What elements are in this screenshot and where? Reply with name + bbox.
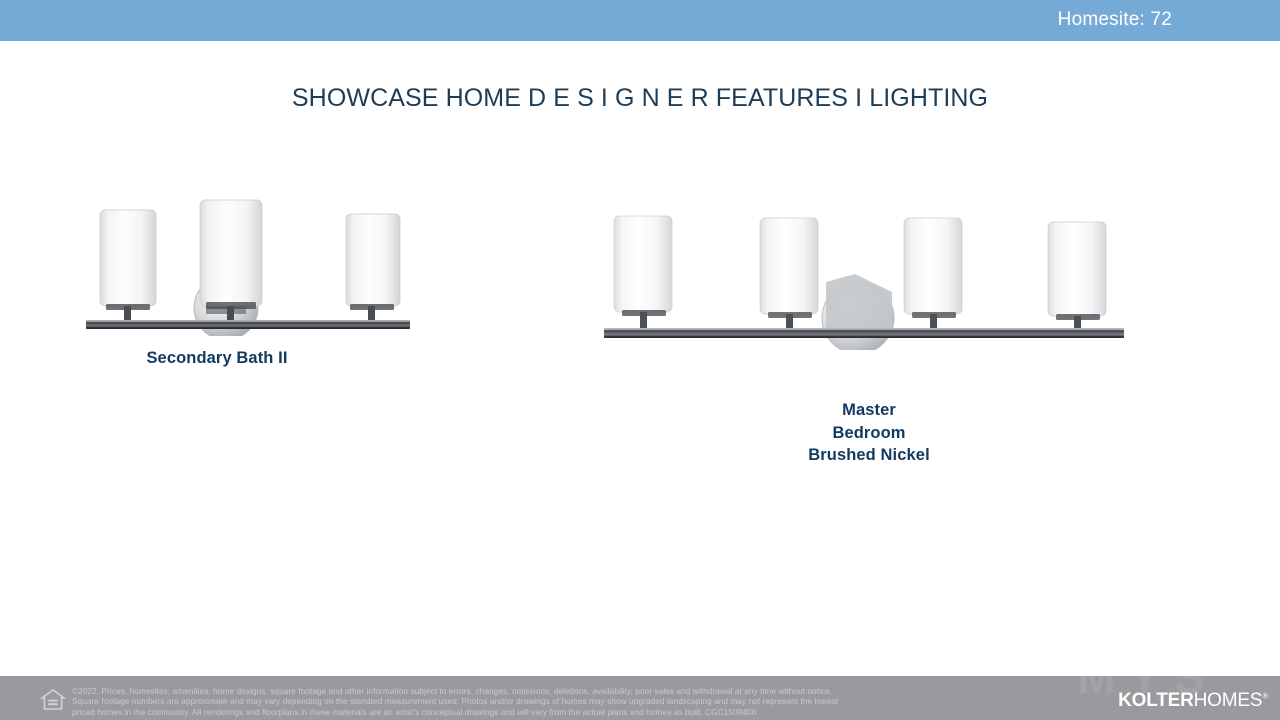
secondary-bath-ii-label: Secondary Bath II [78, 347, 356, 370]
page-title: SHOWCASE HOME D E S I G N E R FEATURES I… [0, 84, 1280, 113]
master-bedroom-fixture-image [600, 200, 1130, 350]
logo-kolter: KOLTER [1118, 690, 1194, 711]
disclaimer-line: ©2022. Prices, homesites, amenities, hom… [72, 686, 1084, 696]
disclaimer-line: Square footage numbers are approximate a… [72, 696, 1084, 706]
legal-disclaimer: ©2022. Prices, homesites, amenities, hom… [72, 686, 1084, 717]
slide-canvas: Homesite: 72 SHOWCASE HOME D E S I G N E… [0, 0, 1280, 720]
label-line: Brushed Nickel [700, 444, 1038, 467]
homesite-label: Homesite: 72 [1058, 9, 1172, 31]
logo-registered-mark: ® [1262, 692, 1268, 701]
disclaimer-line: priced homes in the community. All rende… [72, 707, 1084, 717]
kolter-homes-logo: KOLTERHOMES® [1118, 690, 1268, 712]
label-line: Bedroom [700, 422, 1038, 445]
label-line: Master [700, 399, 1038, 422]
master-bedroom-label: Master Bedroom Brushed Nickel [700, 399, 1038, 467]
secondary-bath-ii-fixture-image [78, 196, 418, 336]
equal-housing-opportunity-icon [40, 688, 66, 712]
logo-homes: HOMES [1194, 690, 1263, 711]
label-line: Secondary Bath II [78, 347, 356, 370]
